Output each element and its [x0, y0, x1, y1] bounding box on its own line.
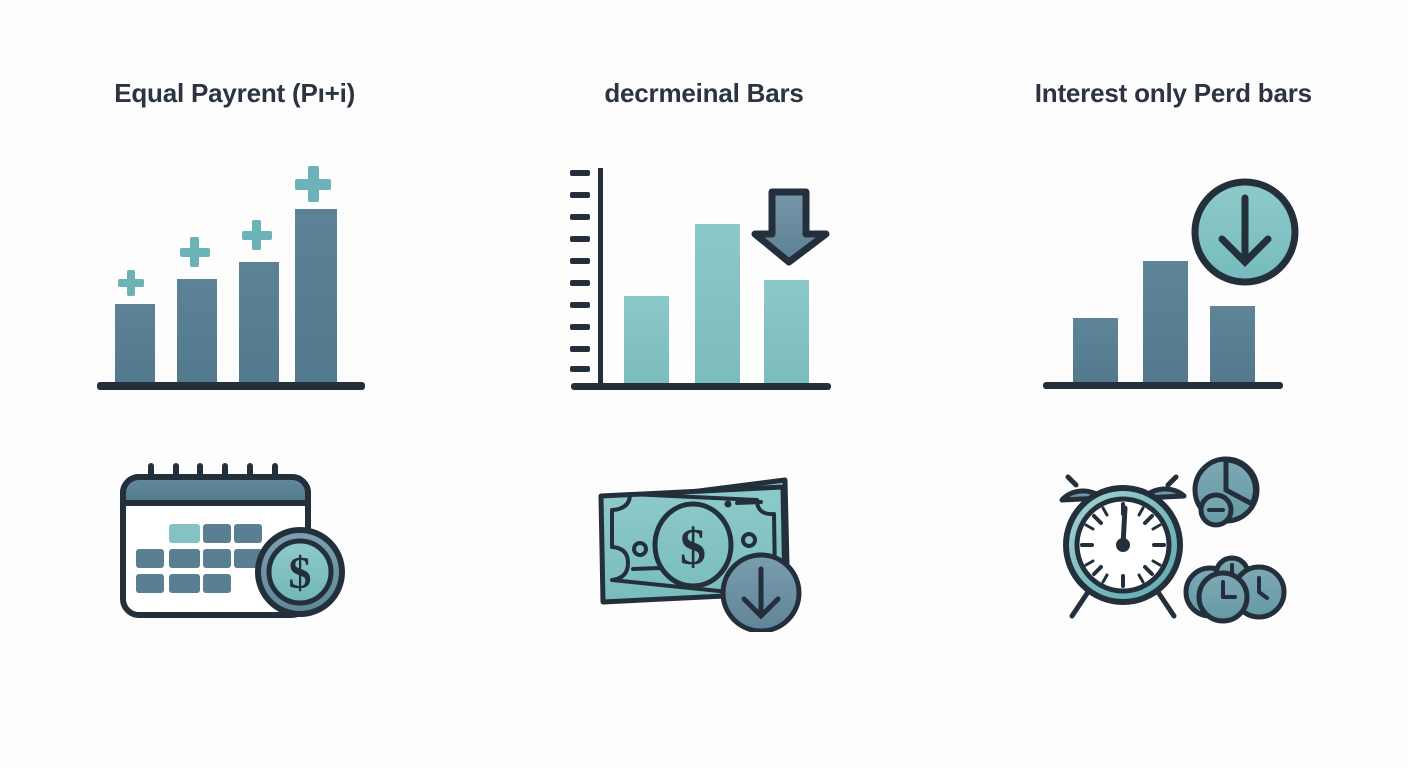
- illustration-board: Equal Payrent (Pı+i): [0, 0, 1408, 768]
- panel-equal-payment-top: Equal Payrent (Pı+i): [0, 0, 469, 430]
- dollar-sign: $: [680, 519, 706, 576]
- panel-decremental-top: decrmeinal Bars: [469, 0, 938, 430]
- cash-stack-with-down-arrow-icon: $: [579, 452, 829, 632]
- panel-interest-only-top: Interest only Perd bars: [939, 0, 1408, 430]
- panel-title-decremental: decrmeinal Bars: [604, 80, 803, 106]
- bar-chart-increasing-with-plus-icon: [95, 154, 375, 404]
- panel-title-interest-only: Interest only Perd bars: [1035, 80, 1312, 106]
- panel-interest-only-bottom: [939, 430, 1408, 768]
- panel-decremental-bottom: $: [469, 430, 938, 768]
- panel-grid: Equal Payrent (Pı+i): [0, 0, 1408, 768]
- bar-chart-with-circle-down-arrow-icon: [1033, 154, 1313, 404]
- bar-chart-axis-with-down-arrow-icon: [559, 154, 849, 404]
- dollar-sign: $: [288, 547, 311, 598]
- panel-equal-payment-bottom: $: [0, 430, 469, 768]
- alarm-clock-with-time-badges-icon: [1048, 452, 1298, 632]
- panel-title-equal-payment: Equal Payrent (Pı+i): [114, 80, 355, 106]
- calendar-with-coin-icon: $: [100, 452, 370, 632]
